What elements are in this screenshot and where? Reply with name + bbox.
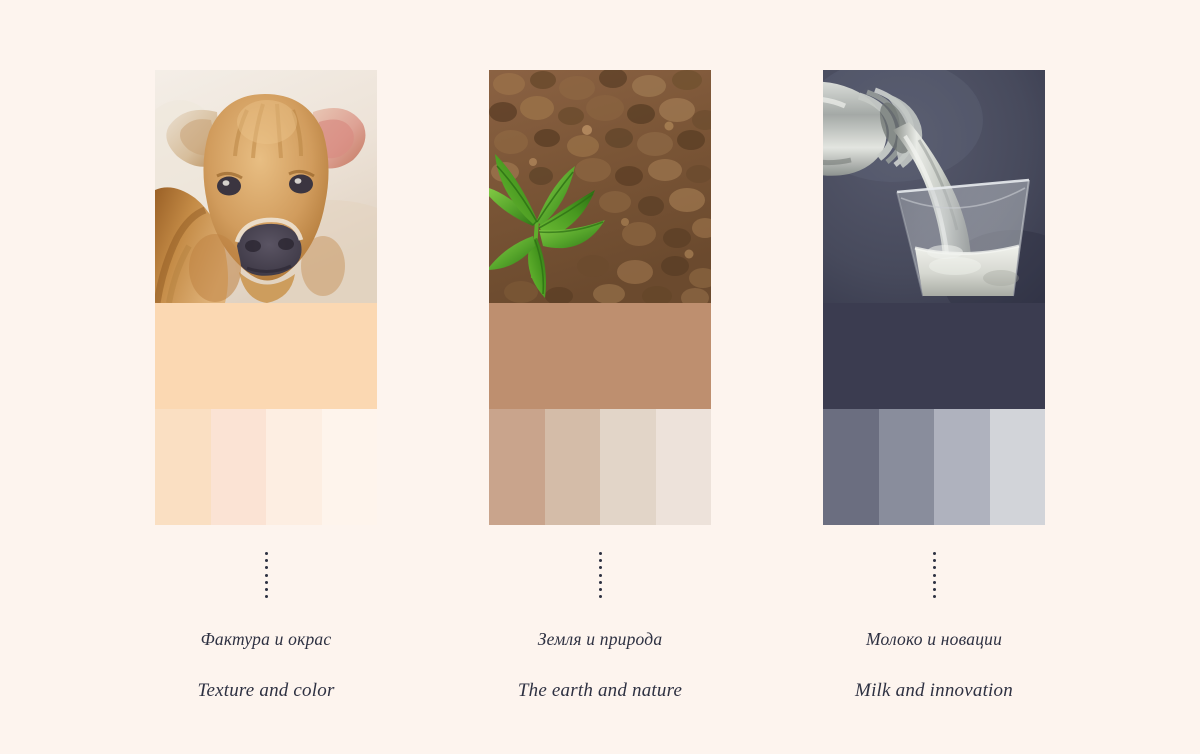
caption-russian: Молоко и новации xyxy=(866,629,1002,650)
swatch-1 xyxy=(823,409,879,525)
divider-dot xyxy=(599,595,602,598)
swatch-2 xyxy=(545,409,601,525)
divider-dot xyxy=(265,552,268,555)
caption-russian: Земля и природа xyxy=(538,629,663,650)
divider-dot xyxy=(933,588,936,591)
divider-dot xyxy=(599,559,602,562)
palette-columns: Фактура и окрас Texture and color xyxy=(155,70,1045,702)
swatch-row xyxy=(823,409,1045,525)
divider-dot xyxy=(933,552,936,555)
calf-photo xyxy=(155,70,377,303)
swatch-row xyxy=(489,409,711,525)
divider-dot xyxy=(265,581,268,584)
dotted-divider xyxy=(933,552,936,598)
divider-dot xyxy=(265,588,268,591)
milk-pouring-photo xyxy=(823,70,1045,303)
caption-english: Milk and innovation xyxy=(855,680,1013,702)
divider-dot xyxy=(933,566,936,569)
dotted-divider xyxy=(599,552,602,598)
divider-dot xyxy=(599,574,602,577)
divider-dot xyxy=(599,581,602,584)
palette-panel-texture-and-color[interactable]: Фактура и окрас Texture and color xyxy=(155,70,377,702)
divider-dot xyxy=(933,559,936,562)
divider-dot xyxy=(265,574,268,577)
swatch-1 xyxy=(489,409,545,525)
divider-dot xyxy=(933,595,936,598)
swatch-2 xyxy=(211,409,267,525)
primary-color-band xyxy=(489,303,711,409)
dotted-divider xyxy=(265,552,268,598)
divider-dot xyxy=(933,574,936,577)
palette-moodboard: Фактура и окрас Texture and color xyxy=(0,0,1200,754)
swatch-4 xyxy=(322,409,378,525)
divider-dot xyxy=(265,595,268,598)
primary-color-band xyxy=(155,303,377,409)
divider-dot xyxy=(599,552,602,555)
soil-seedling-photo xyxy=(489,70,711,303)
caption-english: Texture and color xyxy=(197,680,334,702)
divider-dot xyxy=(599,566,602,569)
divider-dot xyxy=(265,559,268,562)
divider-dot xyxy=(933,581,936,584)
caption-russian: Фактура и окрас xyxy=(201,629,332,650)
soil-seedling-illustration xyxy=(489,70,711,303)
caption-english: The earth and nature xyxy=(518,680,682,702)
palette-panel-earth-and-nature[interactable]: Земля и природа The earth and nature xyxy=(489,70,711,702)
swatch-3 xyxy=(266,409,322,525)
swatch-3 xyxy=(934,409,990,525)
swatch-4 xyxy=(656,409,712,525)
divider-dot xyxy=(599,588,602,591)
milk-pouring-illustration xyxy=(823,70,1045,303)
primary-color-band xyxy=(823,303,1045,409)
swatch-4 xyxy=(990,409,1046,525)
calf-photo-illustration xyxy=(155,70,377,303)
swatch-1 xyxy=(155,409,211,525)
swatch-3 xyxy=(600,409,656,525)
palette-panel-milk-and-innovation[interactable]: Молоко и новации Milk and innovation xyxy=(823,70,1045,702)
swatch-2 xyxy=(879,409,935,525)
divider-dot xyxy=(265,566,268,569)
swatch-row xyxy=(155,409,377,525)
